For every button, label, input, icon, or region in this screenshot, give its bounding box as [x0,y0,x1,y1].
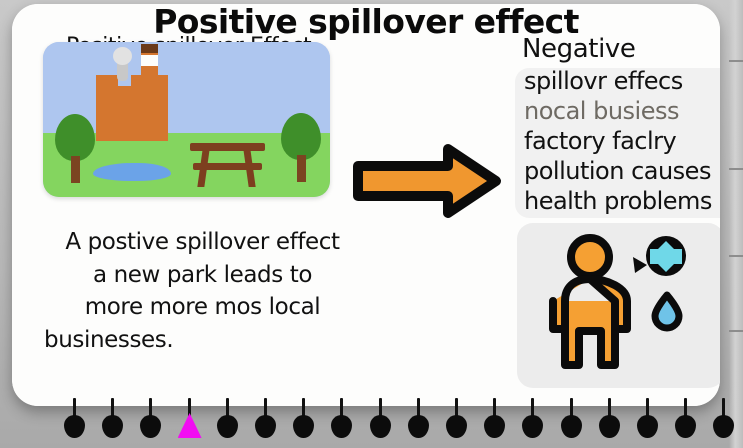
pin-head [140,415,161,438]
tree-icon-left [55,114,95,184]
park-and-factory-scene [43,42,330,197]
pin-head [675,415,696,438]
pin-head [217,415,238,438]
right-body-line: factory faclry [524,126,720,156]
right-body-line: health problems [524,186,720,216]
smokestack-white-band [141,55,158,66]
slide-card: Positive spillover effect Positive spill… [12,4,720,406]
tree-crown [281,113,321,160]
left-body-text: A postive spillover effect a new park le… [30,226,375,357]
tree-trunk [71,156,80,183]
pin-head [293,415,314,438]
pin-head [561,415,582,438]
pin-head [522,415,543,438]
smokestack-cap [141,44,158,53]
pin-head [408,415,429,438]
tree-trunk [297,155,306,182]
picnic-bench-icon [190,143,265,187]
right-body-text: x spillovr effecs nocal busiess factory … [524,66,720,216]
pin-head [484,415,505,438]
right-body-line: nocal busiess [524,96,720,126]
pin-head [331,415,352,438]
page-title: Positive spillover effect [12,4,720,41]
bench-tabletop [190,143,265,151]
slide-canvas: Positive spillover effect Positive spill… [12,4,720,406]
right-edge-ruler[interactable] [729,0,743,448]
factory-smokestack [141,47,158,89]
pin-head [178,413,202,438]
pin-head [102,415,123,438]
tree-crown [55,114,95,161]
pin-head [255,415,276,438]
left-body-line: a new park leads to [30,259,375,292]
right-arrow-svg [352,144,502,218]
tree-icon-right [281,113,321,183]
pin-head [370,415,391,438]
pin-head [446,415,467,438]
right-body-line: pollution causes [524,156,720,186]
right-body-line: spillovr effecs [524,66,720,96]
ruler-tick [729,168,743,170]
pin-head [713,415,734,438]
ruler-tick [729,330,743,332]
bench-seat-rail [193,163,262,170]
ruler-tick [729,60,743,62]
pond-shape [93,163,171,181]
person-health-hazard-svg [535,233,707,378]
left-body-line: businesses. [30,324,375,357]
pin-head [637,415,658,438]
ruler-tick [729,255,743,257]
pin-head [64,415,85,438]
factory-roof-step-left [96,75,118,92]
left-body-line: A postive spillover effect [30,226,375,259]
smoke-puff-icon [113,47,132,65]
right-arrow-icon [352,144,502,218]
left-body-line: more more mos local [30,291,375,324]
slide-pin-strip[interactable] [0,388,743,448]
person-health-hazard-icon [517,223,720,388]
pin-head [599,415,620,438]
